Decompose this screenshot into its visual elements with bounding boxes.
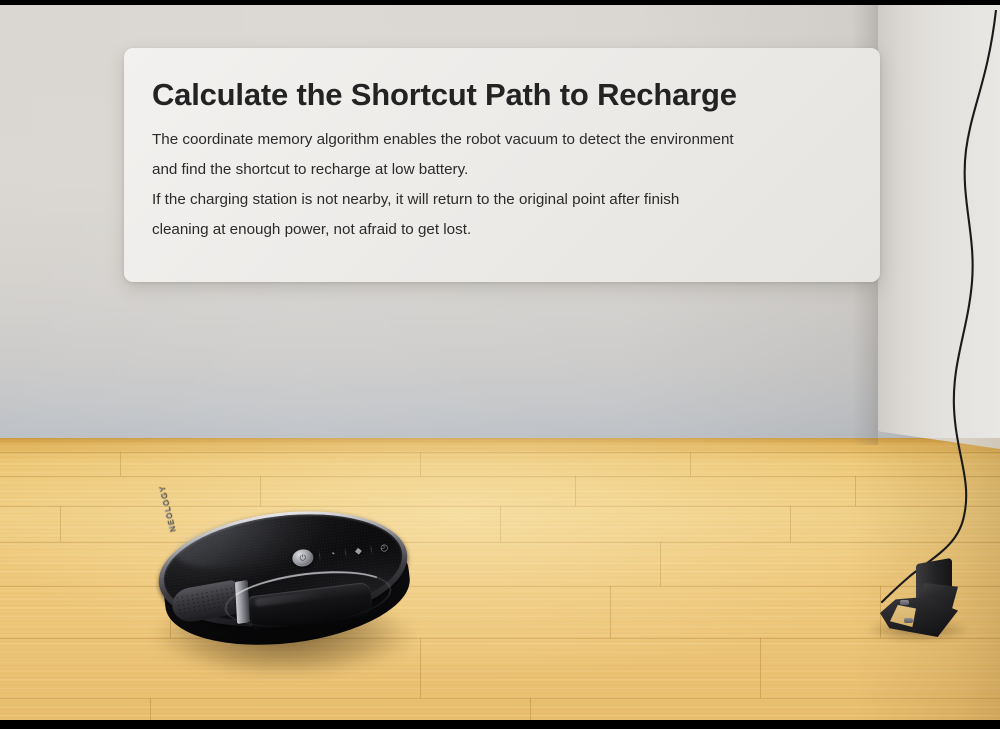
floor-plank-seam — [420, 638, 421, 698]
floor-plank-seam — [575, 476, 576, 506]
home-dock-icon[interactable]: ◆ — [351, 545, 365, 557]
floor-plank-seam — [60, 506, 61, 542]
timer-icon[interactable]: ◴ — [377, 542, 391, 554]
spot-clean-icon[interactable]: ◔ — [325, 548, 339, 560]
charging-station — [880, 561, 972, 635]
floor-plank-seam — [530, 698, 531, 720]
description-paragraph-2: If the charging station is not nearby, i… — [152, 185, 848, 245]
floor-plank-seam — [790, 506, 791, 542]
control-divider — [318, 550, 320, 561]
control-divider — [344, 547, 346, 558]
power-cable — [880, 10, 1000, 630]
dock-charging-pin — [900, 600, 909, 605]
floor-plank-seam — [120, 452, 121, 476]
floor-plank-seam — [690, 452, 691, 476]
robot-vacuum: NEOLOGY ◔ ◆ ◴ — [150, 505, 420, 680]
floor-plank-seam — [660, 542, 661, 586]
dock-charging-pin — [904, 618, 913, 623]
floor-plank-seam — [420, 452, 421, 476]
feature-info-card: Calculate the Shortcut Path to Recharge … — [124, 48, 880, 282]
letterbox-bottom-bar — [0, 720, 1000, 729]
page-title: Calculate the Shortcut Path to Recharge — [152, 78, 848, 112]
feature-banner-scene: NEOLOGY ◔ ◆ ◴ Calculate the Shortcut Pat… — [0, 0, 1000, 729]
floor-plank-seam — [260, 476, 261, 506]
power-button[interactable] — [291, 548, 314, 567]
floor-plank-seam — [500, 506, 501, 542]
letterbox-top-bar — [0, 0, 1000, 5]
feature-description: The coordinate memory algorithm enables … — [152, 125, 848, 245]
floor-plank-seam — [150, 698, 151, 720]
description-paragraph-1: The coordinate memory algorithm enables … — [152, 125, 848, 185]
floor-plank-seam — [610, 586, 611, 638]
floor-plank-seam — [760, 638, 761, 698]
control-divider — [370, 544, 372, 555]
